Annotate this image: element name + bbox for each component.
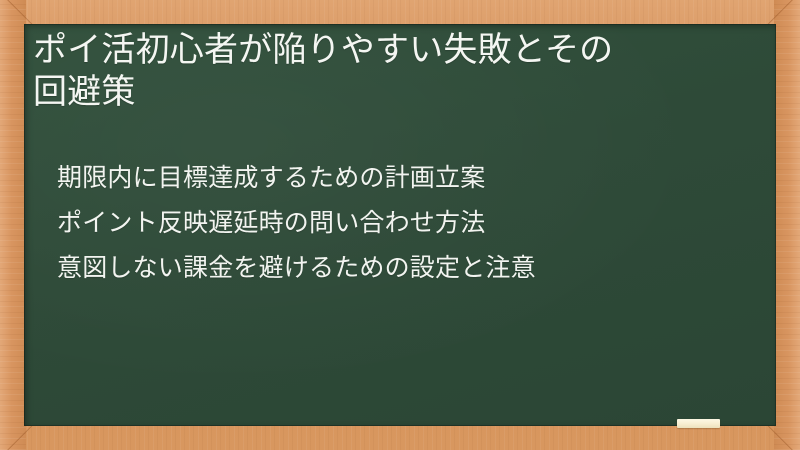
frame-rail-left xyxy=(0,0,26,450)
slide-canvas: ポイ活初心者が陥りやすい失敗とその 回避策 期限内に目標達成するための計画立案 … xyxy=(0,0,800,450)
list-item: 意図しない課金を避けるための設定と注意 xyxy=(57,246,757,291)
chalk-stick-icon xyxy=(677,419,720,428)
list-item: ポイント反映遅延時の問い合わせ方法 xyxy=(57,201,757,246)
page-title: ポイ活初心者が陥りやすい失敗とその 回避策 xyxy=(33,29,763,113)
topic-list: 期限内に目標達成するための計画立案 ポイント反映遅延時の問い合わせ方法 意図しな… xyxy=(57,156,757,291)
chalkboard-surface: ポイ活初心者が陥りやすい失敗とその 回避策 期限内に目標達成するための計画立案 … xyxy=(24,24,776,426)
list-item: 期限内に目標達成するための計画立案 xyxy=(57,156,757,201)
frame-rail-right xyxy=(774,0,800,450)
